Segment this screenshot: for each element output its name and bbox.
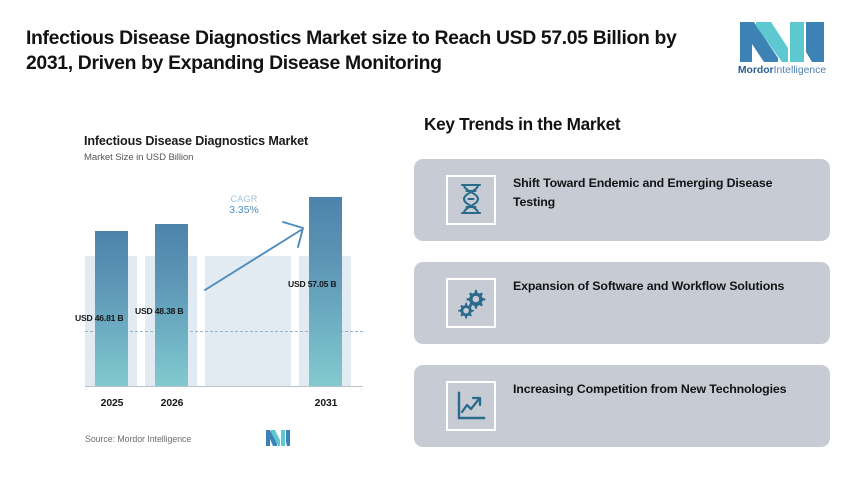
- key-trends-title: Key Trends in the Market: [424, 114, 620, 135]
- gears-glyph: [455, 287, 487, 319]
- trend-card-2-text: Expansion of Software and Workflow Solut…: [513, 277, 813, 296]
- trend-card-2[interactable]: Expansion of Software and Workflow Solut…: [414, 262, 830, 344]
- mordor-footer-logo-icon: [265, 429, 291, 446]
- cagr-annotation: CAGR 3.35%: [213, 194, 275, 216]
- bar-value-label-2025: USD 46.81 B: [75, 313, 123, 323]
- x-label-2025: 2025: [85, 398, 139, 409]
- dna-helix-icon: [446, 175, 496, 225]
- trending-chart-icon: [446, 381, 496, 431]
- x-label-2031: 2031: [299, 398, 353, 409]
- mordor-logo-mark: [738, 20, 826, 62]
- page-title: Infectious Disease Diagnostics Market si…: [26, 26, 716, 76]
- bar-2031: [309, 197, 342, 387]
- trend-card-3-text: Increasing Competition from New Technolo…: [513, 380, 813, 399]
- chart-x-axis: [85, 386, 363, 387]
- x-label-2026: 2026: [145, 398, 199, 409]
- brand-word-bold: Mordor: [738, 65, 774, 76]
- cagr-label: CAGR: [213, 194, 275, 204]
- dna-helix-glyph: [458, 183, 484, 217]
- cagr-growth-arrow-icon: [203, 216, 313, 294]
- bar-2025: [95, 231, 128, 387]
- trending-chart-glyph: [456, 391, 486, 421]
- infographic-root: Infectious Disease Diagnostics Market si…: [0, 0, 860, 482]
- gears-icon: [446, 278, 496, 328]
- cagr-value: 3.35%: [213, 205, 275, 216]
- chart-panel: Infectious Disease Diagnostics Market Ma…: [60, 126, 390, 466]
- chart-source-note: Source: Mordor Intelligence: [85, 434, 191, 444]
- chart-subtitle: Market Size in USD Billion: [84, 152, 193, 163]
- header: Infectious Disease Diagnostics Market si…: [0, 0, 860, 92]
- bar-value-label-2026: USD 48.38 B: [135, 306, 183, 316]
- chart-plot-area: USD 46.81 B USD 48.38 B USD 57.05 B CAGR…: [85, 186, 363, 413]
- mordor-logo-wordmark: MordorIntelligence: [730, 64, 834, 77]
- chart-title: Infectious Disease Diagnostics Market: [84, 134, 308, 148]
- brand-word-light: Intelligence: [774, 65, 827, 76]
- mordor-intelligence-logo: MordorIntelligence: [730, 20, 834, 80]
- trend-card-3[interactable]: Increasing Competition from New Technolo…: [414, 365, 830, 447]
- trend-card-1[interactable]: Shift Toward Endemic and Emerging Diseas…: [414, 159, 830, 241]
- trend-card-1-text: Shift Toward Endemic and Emerging Diseas…: [513, 174, 813, 211]
